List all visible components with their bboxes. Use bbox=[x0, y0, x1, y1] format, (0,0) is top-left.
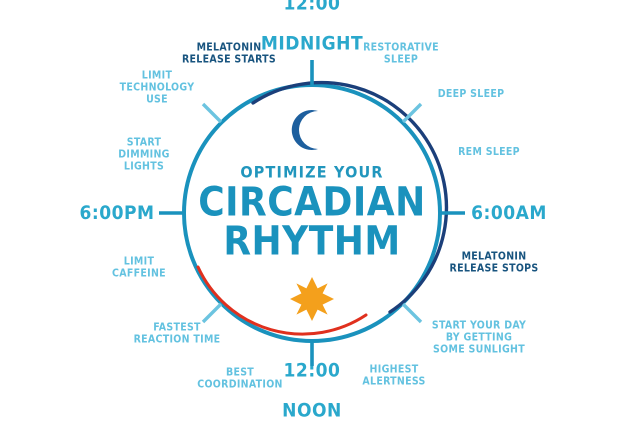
time-label-six-am: 6:00AM bbox=[471, 183, 547, 243]
label-limit-caffeine: LIMIT CAFFEINE bbox=[112, 256, 166, 280]
label-fastest-reaction-time: FASTEST REACTION TIME bbox=[134, 322, 221, 346]
infographic-canvas: Optimize Your Circadian Rhythm 12:00 MID… bbox=[0, 0, 624, 426]
title-subheading: Optimize Your bbox=[192, 165, 432, 181]
label-restorative-sleep: RESTORATIVE SLEEP bbox=[363, 42, 439, 66]
time-six-pm-line1: 6:00PM bbox=[79, 203, 154, 223]
label-melatonin-release-stops: MELATONIN RELEASE STOPS bbox=[450, 251, 539, 275]
tick-nine-am bbox=[403, 304, 421, 322]
alertness-arc-red bbox=[198, 267, 366, 334]
time-label-midnight: 12:00 MIDNIGHT bbox=[261, 0, 363, 74]
tick-nine-pm bbox=[203, 104, 221, 122]
time-midnight-line2: MIDNIGHT bbox=[261, 34, 363, 54]
time-six-am-line1: 6:00AM bbox=[471, 203, 547, 223]
label-start-dimming-lights: START DIMMING LIGHTS bbox=[118, 137, 169, 172]
time-noon-line1: 12:00 bbox=[282, 361, 342, 381]
label-melatonin-release-starts: MELATONIN RELEASE STARTS bbox=[182, 42, 276, 66]
label-limit-technology-use: LIMIT TECHNOLOGY USE bbox=[120, 70, 195, 105]
crescent-moon-icon bbox=[292, 110, 318, 150]
center-title-block: Optimize Your Circadian Rhythm bbox=[192, 165, 432, 262]
label-start-your-day-sunlight: START YOUR DAY BY GETTING SOME SUNLIGHT bbox=[432, 320, 526, 355]
label-highest-alertness: HIGHEST ALERTNESS bbox=[362, 364, 425, 388]
time-midnight-line1: 12:00 bbox=[261, 0, 363, 14]
tick-three-pm bbox=[203, 304, 221, 322]
label-deep-sleep: DEEP SLEEP bbox=[438, 89, 505, 101]
label-rem-sleep: REM SLEEP bbox=[458, 147, 520, 159]
title-main-line2: Rhythm bbox=[192, 223, 432, 262]
title-main-line1: Circadian bbox=[192, 184, 432, 223]
time-noon-line2: NOON bbox=[282, 401, 342, 421]
time-label-six-pm: 6:00PM bbox=[79, 183, 154, 243]
label-best-coordination: BEST COORDINATION bbox=[197, 367, 283, 391]
sun-star-icon bbox=[290, 277, 334, 321]
